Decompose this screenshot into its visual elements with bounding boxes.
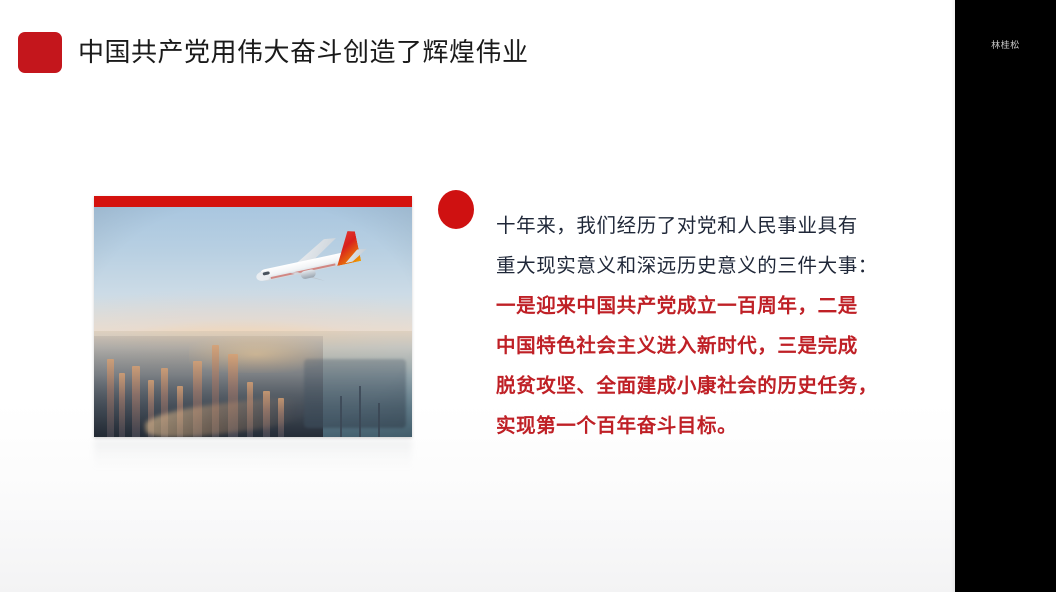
body-text-block: 十年来，我们经历了对党和人民事业具有 重大现实意义和深远历史意义的三件大事： 一… bbox=[496, 206, 866, 446]
photo-top-accent-bar bbox=[94, 196, 412, 207]
slide-header: 中国共产党用伟大奋斗创造了辉煌伟业 bbox=[0, 0, 955, 105]
title-accent-marker bbox=[18, 32, 62, 73]
body-text-line: 重大现实意义和深远历史意义的三件大事： bbox=[496, 246, 866, 286]
body-text-line: 中国特色社会主义进入新时代，三是完成 bbox=[496, 326, 866, 366]
presentation-slide: 中国共产党用伟大奋斗创造了辉煌伟业 bbox=[0, 0, 1056, 592]
watermark-label: 林桂松 bbox=[955, 38, 1056, 51]
photo-reflection bbox=[94, 440, 412, 470]
red-circle-bullet bbox=[438, 190, 474, 229]
photo-vignette bbox=[94, 207, 412, 437]
photo-canvas bbox=[94, 207, 412, 437]
page-title: 中国共产党用伟大奋斗创造了辉煌伟业 bbox=[78, 33, 529, 71]
body-text-line: 一是迎来中国共产党成立一百周年，二是 bbox=[496, 286, 866, 326]
body-text-line: 十年来，我们经历了对党和人民事业具有 bbox=[496, 206, 866, 246]
slide-photo bbox=[94, 196, 412, 437]
right-side-panel: 林桂松 bbox=[955, 0, 1056, 592]
body-text-line: 实现第一个百年奋斗目标。 bbox=[496, 406, 866, 446]
body-text-line: 脱贫攻坚、全面建成小康社会的历史任务， bbox=[496, 366, 866, 406]
